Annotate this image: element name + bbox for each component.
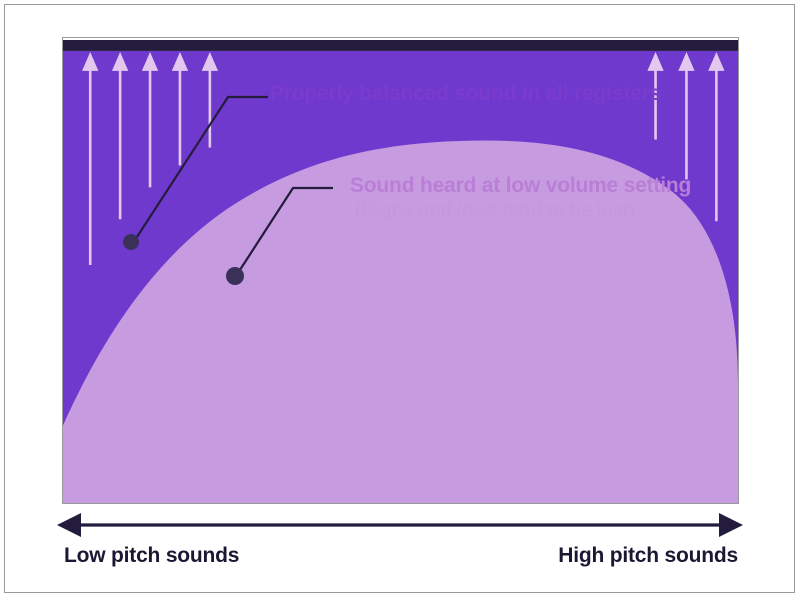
axis-arrow-head-left bbox=[57, 513, 81, 537]
pitch-axis-arrow bbox=[55, 508, 745, 542]
response-curve-chart bbox=[63, 38, 738, 503]
figure-stage: Properly balanced sound in all registers… bbox=[0, 0, 800, 598]
axis-label-high-pitch: High pitch sounds bbox=[558, 544, 738, 568]
callout-low-volume-sound-subtext: (Highs and lows tend to be lost) bbox=[355, 200, 635, 223]
chart-plot-area bbox=[62, 37, 739, 504]
callout-low-volume-sound: Sound heard at low volume setting bbox=[350, 174, 691, 198]
axis-label-low-pitch: Low pitch sounds bbox=[64, 544, 239, 568]
axis-arrow-head-right bbox=[719, 513, 743, 537]
callout-balanced-sound: Properly balanced sound in all registers bbox=[270, 82, 661, 106]
balanced-response-bar bbox=[63, 40, 738, 51]
